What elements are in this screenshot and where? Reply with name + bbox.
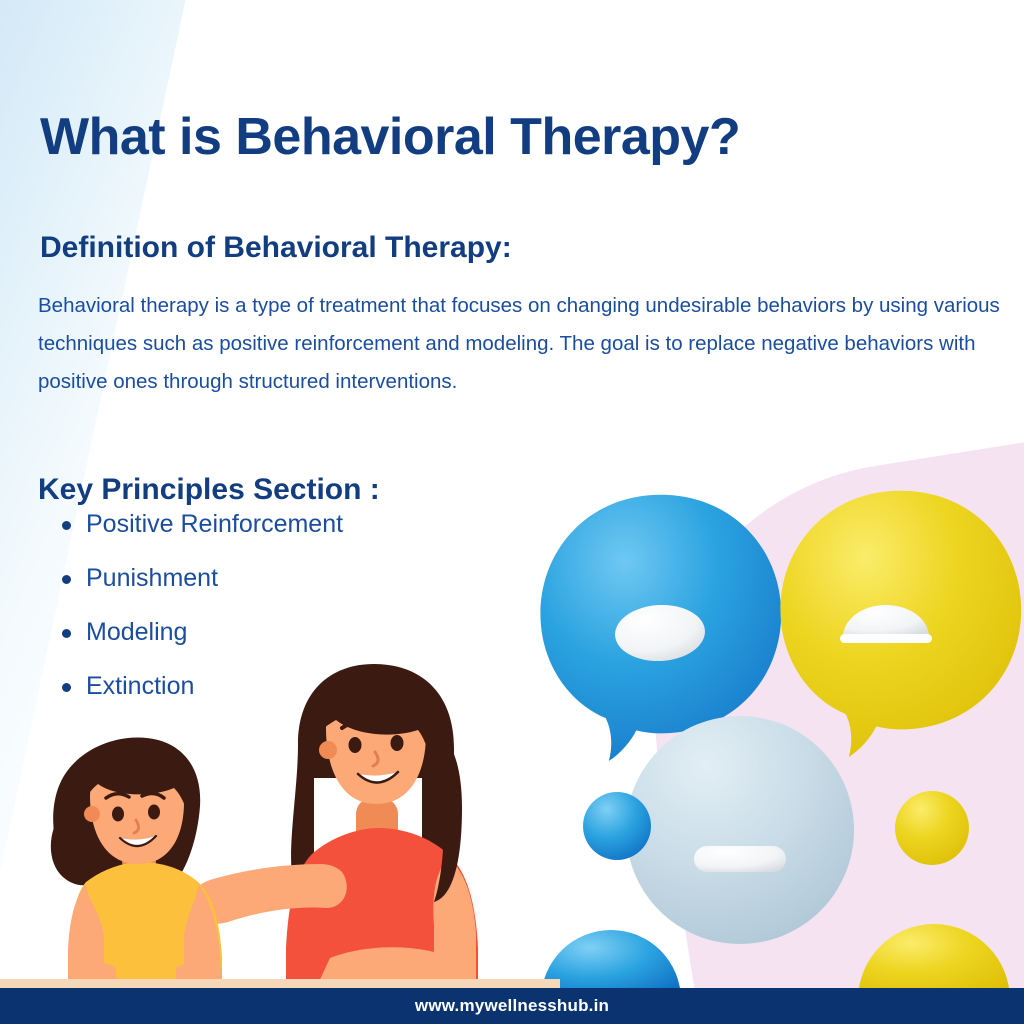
blue-sphere-icon (583, 792, 651, 860)
list-item: Punishment (38, 558, 343, 612)
list-item: Modeling (38, 612, 343, 666)
footer-bar: www.mywellnesshub.in (0, 988, 1024, 1024)
list-item: Extinction (38, 666, 343, 720)
key-principles-heading: Key Principles Section : (38, 473, 380, 507)
table-surface-strip (0, 979, 560, 988)
list-item-label: Punishment (86, 564, 218, 592)
definition-heading: Definition of Behavioral Therapy: (40, 231, 512, 265)
list-item-label: Positive Reinforcement (86, 510, 343, 538)
bullet-dot-icon (62, 683, 71, 692)
bullet-dot-icon (62, 575, 71, 584)
bullet-dot-icon (62, 521, 71, 530)
child-figure (51, 738, 222, 988)
background-pink-shape-lower (744, 700, 1024, 1024)
bullet-dot-icon (62, 629, 71, 638)
infographic-poster: What is Behavioral Therapy? Definition o… (0, 0, 1024, 1024)
list-item-label: Modeling (86, 618, 187, 646)
page-title: What is Behavioral Therapy? (40, 107, 740, 167)
key-principles-list: Positive Reinforcement Punishment Modeli… (38, 504, 343, 720)
definition-paragraph: Behavioral therapy is a type of treatmen… (38, 287, 1006, 401)
list-item: Positive Reinforcement (38, 504, 343, 558)
website-url[interactable]: www.mywellnesshub.in (415, 996, 609, 1016)
list-item-label: Extinction (86, 672, 194, 700)
